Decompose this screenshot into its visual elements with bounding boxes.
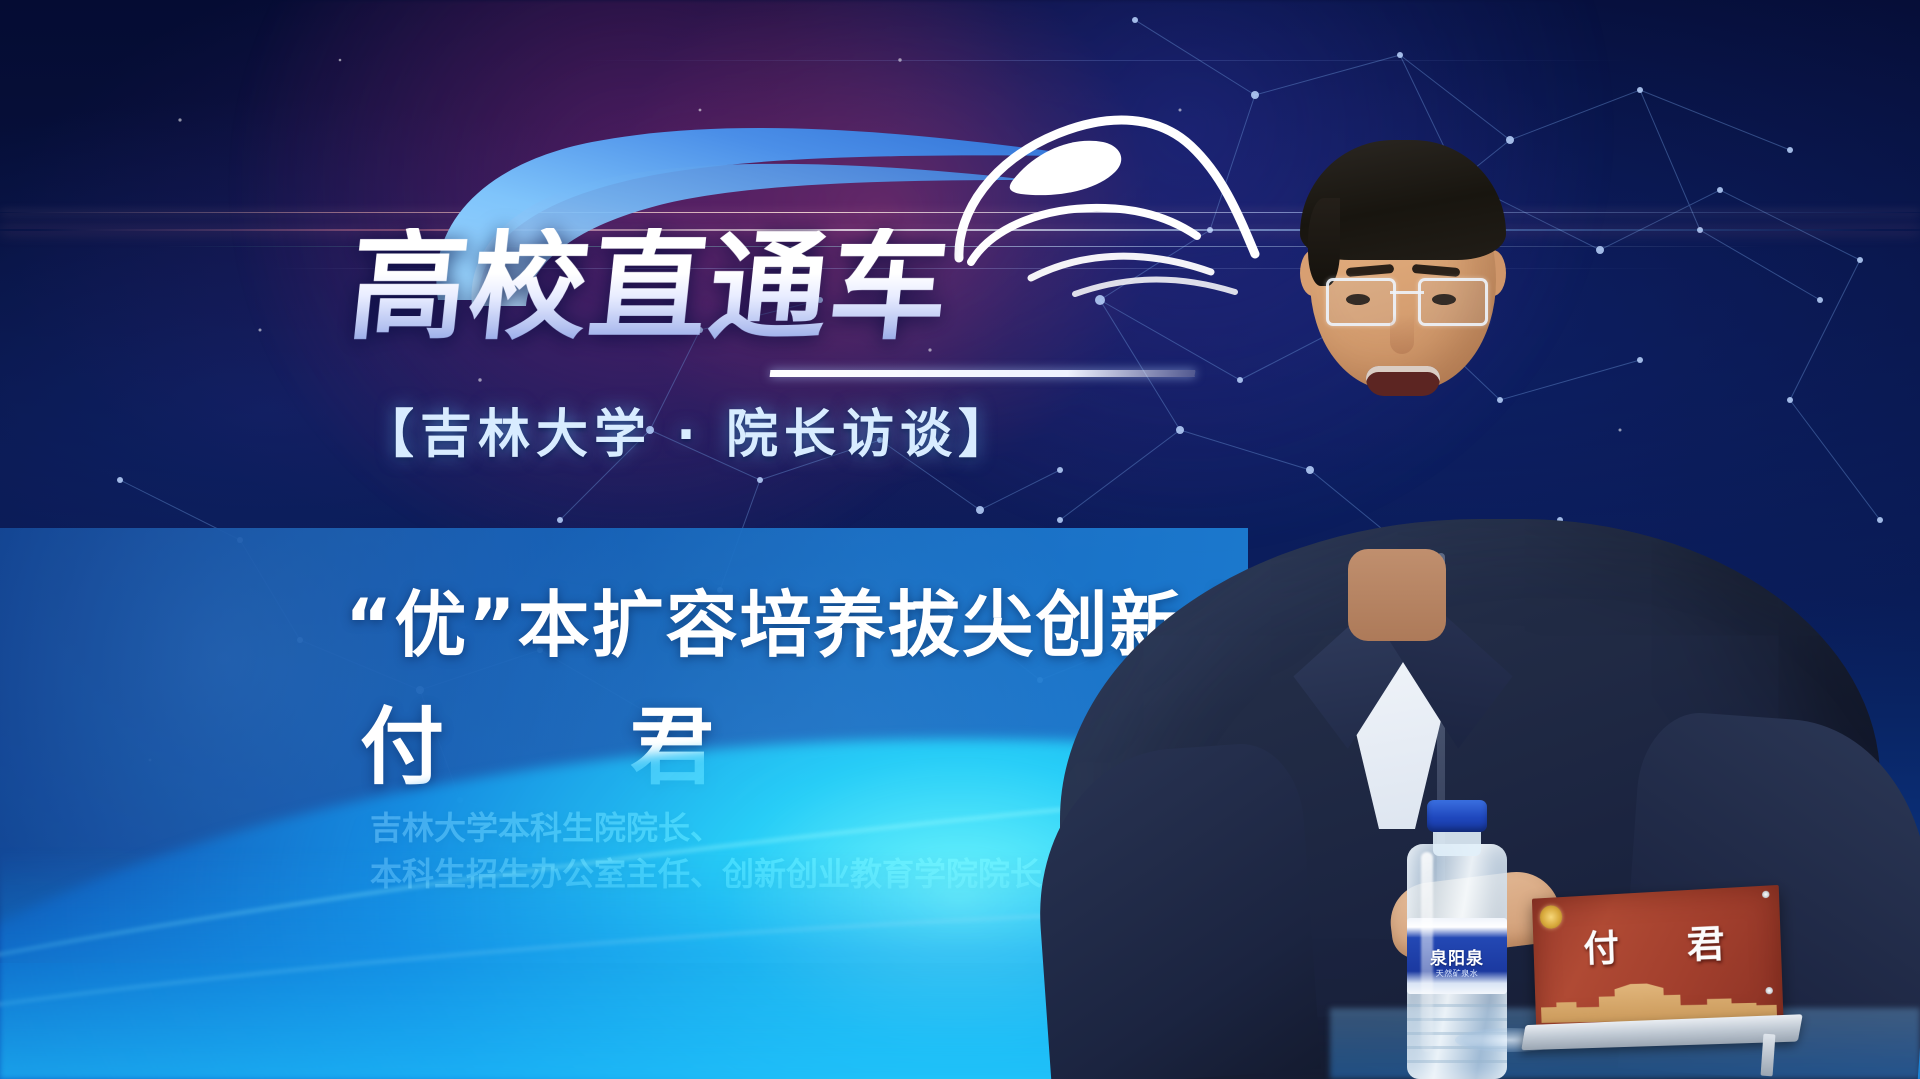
screw-icon xyxy=(1765,987,1773,994)
bottle-cap xyxy=(1427,800,1487,832)
hair xyxy=(1300,140,1506,260)
nameplate-name-text: 付 君 xyxy=(1533,910,1782,974)
broadcast-lower-third-frame: 高校直通车 【吉林大学 · 院长访谈】 “优”本扩容培养拔尖创新人才 付 君 吉… xyxy=(0,0,1920,1079)
program-logo: 高校直通车 xyxy=(340,120,1160,370)
lens-right xyxy=(1418,278,1488,326)
program-logo-title: 高校直通车 xyxy=(344,228,956,346)
series-bracket-label: 【吉林大学 · 院长访谈】 xyxy=(362,392,1016,467)
mouth xyxy=(1366,366,1440,396)
desk-nameplate: 付 君 xyxy=(1528,892,1804,1079)
nose xyxy=(1390,314,1414,354)
nameplate-board: 付 君 xyxy=(1532,885,1784,1029)
screw-icon xyxy=(1762,891,1770,899)
nameplate-foot xyxy=(1761,1034,1776,1077)
lens-left xyxy=(1326,278,1396,326)
neck xyxy=(1348,549,1446,641)
bottle-highlight xyxy=(1421,852,1433,1052)
